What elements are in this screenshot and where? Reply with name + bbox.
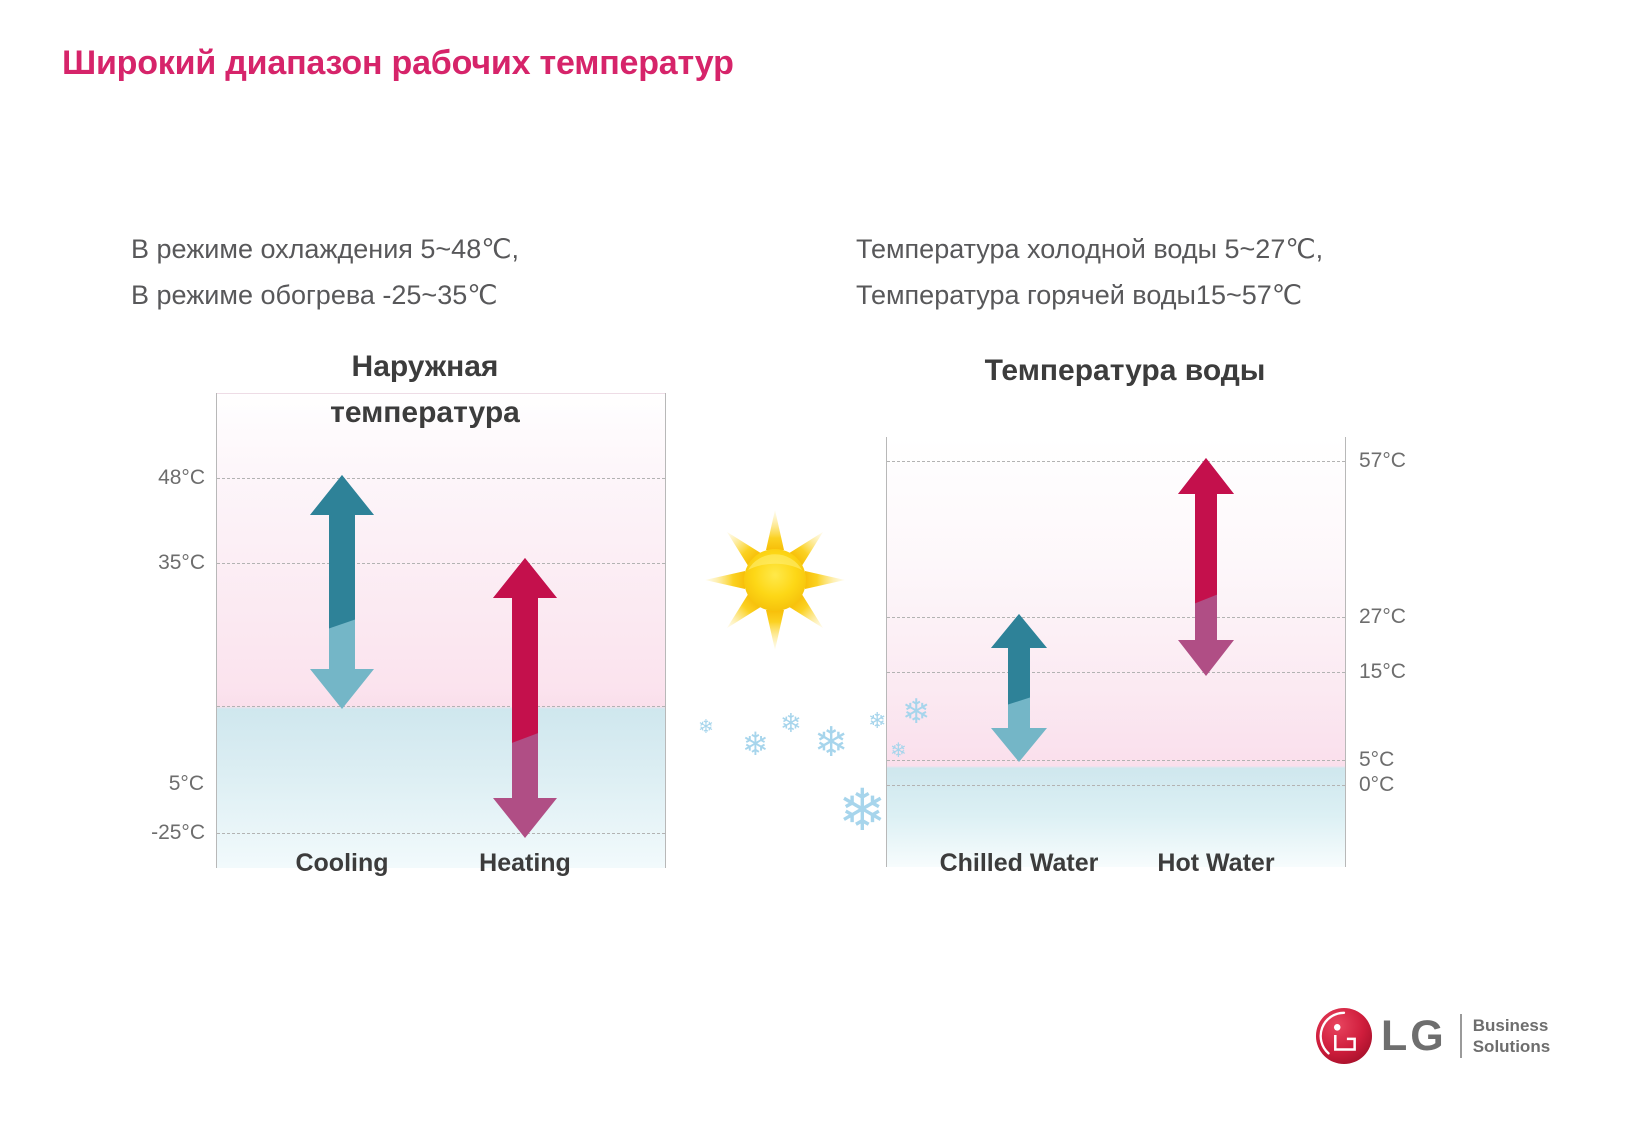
chart-title-outdoor-line1: Наружная (255, 344, 595, 390)
category-label-heating: Heating (445, 849, 605, 878)
chart-plot-background (216, 393, 666, 868)
caption-water: Температура холодной воды 5~27℃, Темпера… (856, 226, 1323, 318)
arrow-heating (493, 558, 557, 838)
category-label-hot-water: Hot Water (1126, 849, 1306, 878)
snowflake-icon: ❄ (780, 708, 802, 739)
chart-axis-line-left (216, 393, 217, 868)
caption-outdoor: В режиме охлаждения 5~48℃, В режиме обог… (131, 226, 519, 318)
gridline-0: 0°C (887, 785, 1345, 786)
logo-divider (1460, 1014, 1462, 1058)
tick-label-5: 5°C (169, 772, 204, 796)
tick-label-27: 27°C (1359, 605, 1406, 629)
lg-business-solutions-logo: LG Business Solutions (1315, 1005, 1555, 1067)
gridline-5: 5°C (887, 760, 1345, 761)
arrow-hot-water (1178, 458, 1234, 676)
lg-wordmark: LG (1381, 1015, 1447, 1058)
sun-icon (700, 505, 850, 655)
logo-tagline-line1: Business (1473, 1015, 1550, 1036)
snowflake-icon: ❄ (698, 716, 714, 739)
snowflake-icon: ❄ (814, 718, 848, 766)
gridline-15: 15°C (887, 672, 1345, 673)
chart-title-water: Температура воды (955, 348, 1295, 394)
caption-outdoor-line1: В режиме охлаждения 5~48℃, (131, 226, 519, 272)
gridline-48: 48°C (217, 478, 665, 479)
logo-tagline: Business Solutions (1473, 1015, 1550, 1057)
chart-title-outdoor-line2: температура (255, 390, 595, 436)
chart-plot-background (886, 437, 1346, 867)
chart-title-outdoor: Наружная температура (255, 344, 595, 436)
snowflake-icon: ❄ (902, 692, 931, 732)
tick-label-0: 0°C (1359, 773, 1394, 797)
category-label-cooling: Cooling (262, 849, 422, 878)
gridline-35: 35°C (217, 563, 665, 564)
arrow-chilled-water (991, 614, 1047, 762)
page-title: Широкий диапазон рабочих температур (62, 44, 734, 83)
arrow-cooling (310, 475, 374, 709)
lg-circle-mark (1315, 1007, 1373, 1065)
tick-label-35: 35°C (158, 551, 205, 575)
chart-water-temperature: 57°C 27°C 15°C 5°C 0°C (886, 437, 1346, 867)
caption-outdoor-line2: В режиме обогрева -25~35℃ (131, 272, 519, 318)
tick-label-15: 15°C (1359, 660, 1406, 684)
gridline-57: 57°C (887, 461, 1345, 462)
category-label-chilled-water: Chilled Water (929, 849, 1109, 878)
tick-label-57: 57°C (1359, 449, 1406, 473)
caption-water-line2: Температура горячей воды15~57℃ (856, 272, 1323, 318)
snowflake-icon: ❄ (868, 708, 886, 734)
chart-axis-line-right (1345, 437, 1346, 867)
chart-outdoor-temperature: 48°C 35°C -25°C 5°C (216, 393, 666, 868)
logo-tagline-line2: Solutions (1473, 1036, 1550, 1057)
gridline-minus25: -25°C (217, 833, 665, 834)
chart-axis-line-right (665, 393, 666, 868)
snowflake-group: ❄ ❄ ❄ ❄ ❄ ❄ ❄ ❄ (690, 700, 870, 840)
snowflake-icon: ❄ (742, 725, 769, 763)
gridline-band (217, 706, 665, 707)
snowflake-icon: ❄ (838, 776, 887, 844)
tick-label-5: 5°C (1359, 748, 1394, 772)
snowflake-icon: ❄ (890, 738, 907, 763)
caption-water-line1: Температура холодной воды 5~27℃, (856, 226, 1323, 272)
gridline-27: 27°C (887, 617, 1345, 618)
tick-label-48: 48°C (158, 466, 205, 490)
tick-label-minus25: -25°C (151, 821, 205, 845)
